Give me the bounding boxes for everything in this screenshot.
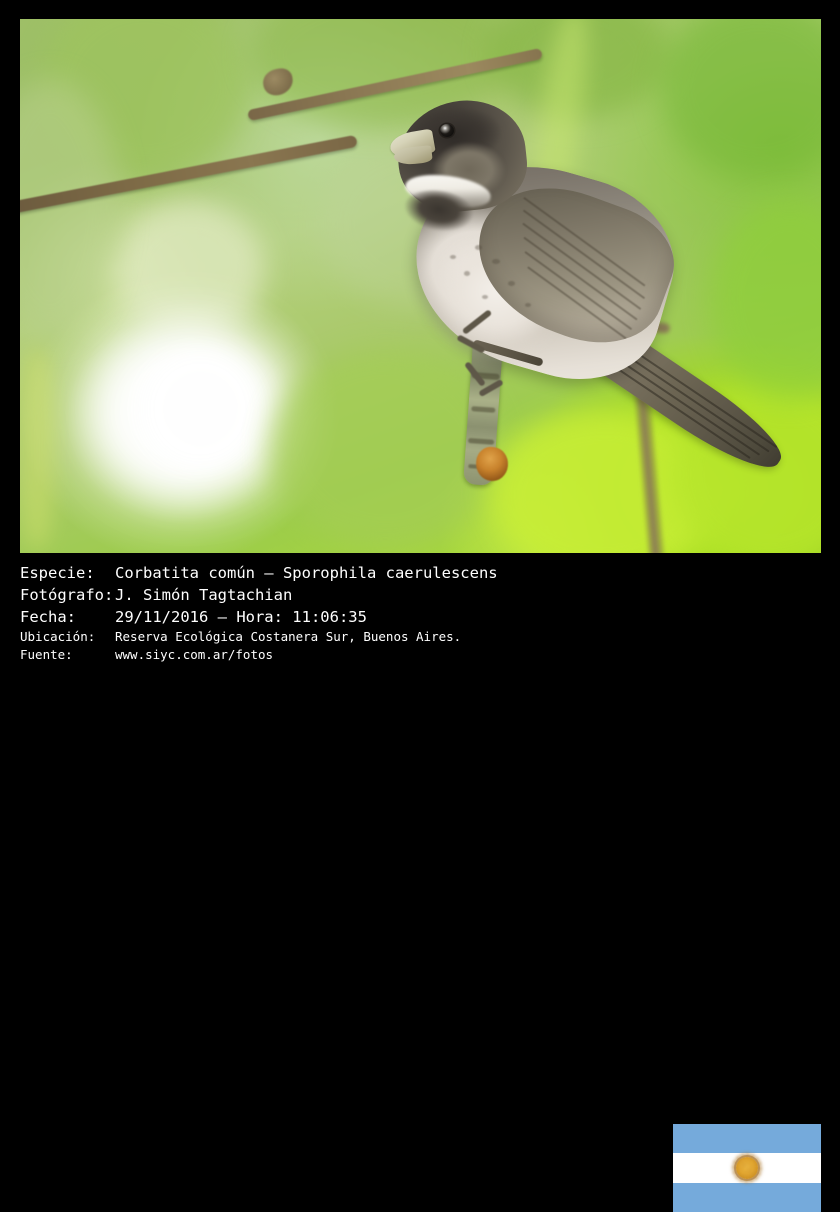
plumage-speckle xyxy=(475,245,482,250)
label-especie: Especie: xyxy=(20,562,115,584)
label-ubicacion: Ubicación: xyxy=(20,628,115,646)
plumage-speckle xyxy=(482,295,488,299)
flag-band-bottom xyxy=(673,1183,821,1212)
metadata-row-fuente: Fuente: www.siyc.com.ar/fotos xyxy=(20,646,498,664)
photo-caption-page: Especie: Corbatita común — Sporophila ca… xyxy=(0,0,840,668)
bird-toe xyxy=(464,361,486,387)
plumage-speckle xyxy=(464,271,470,276)
metadata-rows: Especie: Corbatita común — Sporophila ca… xyxy=(20,562,498,664)
value-ubicacion: Reserva Ecológica Costanera Sur, Buenos … xyxy=(115,628,461,646)
bird-photograph xyxy=(20,19,821,553)
label-fecha: Fecha: xyxy=(20,606,115,628)
bird-seedeater xyxy=(20,19,821,553)
value-especie: Corbatita común — Sporophila caerulescen… xyxy=(115,562,498,584)
sol-de-mayo-icon xyxy=(736,1157,758,1179)
label-fotografo: Fotógrafo: xyxy=(20,584,115,606)
metadata-row-especie: Especie: Corbatita común — Sporophila ca… xyxy=(20,562,498,584)
plumage-speckle xyxy=(492,259,500,264)
metadata-row-fecha: Fecha: 29/11/2016 — Hora: 11:06:35 xyxy=(20,606,498,628)
value-fecha: 29/11/2016 — Hora: 11:06:35 xyxy=(115,606,367,628)
value-fotografo: J. Simón Tagtachian xyxy=(115,584,292,606)
label-fuente: Fuente: xyxy=(20,646,115,664)
plumage-speckle xyxy=(525,303,531,307)
plumage-speckle xyxy=(450,255,456,259)
caption-bar: Especie: Corbatita común — Sporophila ca… xyxy=(0,556,840,668)
argentina-flag-icon xyxy=(673,1124,821,1212)
metadata-row-ubicacion: Ubicación: Reserva Ecológica Costanera S… xyxy=(20,628,498,646)
metadata-row-fotografo: Fotógrafo: J. Simón Tagtachian xyxy=(20,584,498,606)
value-fuente[interactable]: www.siyc.com.ar/fotos xyxy=(115,646,273,664)
bird-eye xyxy=(440,124,454,137)
plumage-speckle xyxy=(508,281,515,286)
flag-band-top xyxy=(673,1124,821,1153)
